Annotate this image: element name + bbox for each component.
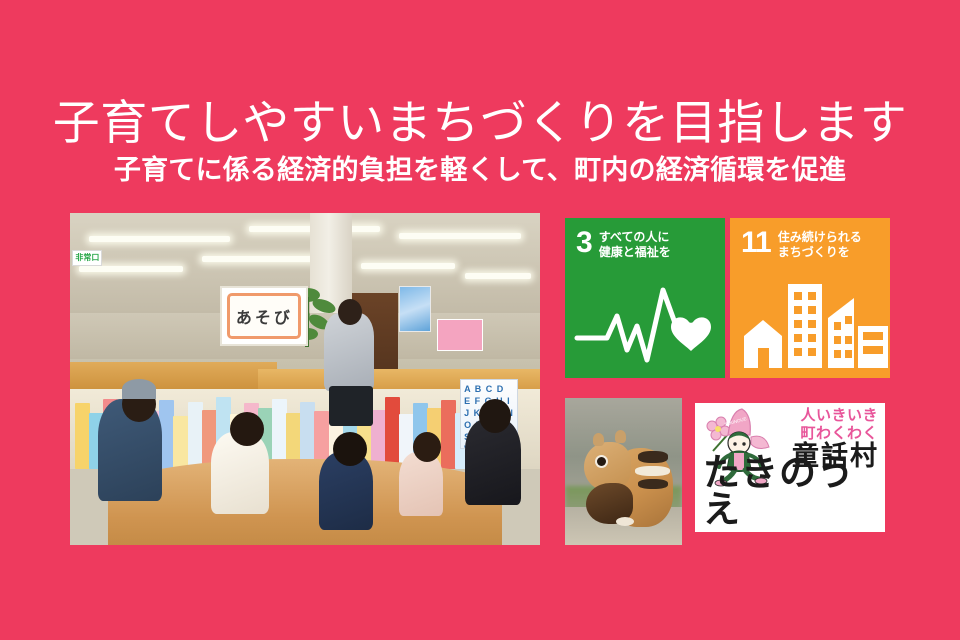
chipmunk-eye	[597, 457, 606, 466]
sdg-badge-3-line1: すべての人に	[599, 230, 671, 245]
logo-catchphrase-line1: 人いきいき	[800, 407, 878, 425]
exit-sign: 非常口	[72, 250, 102, 266]
sdg-badge-11-line2: まちづくりを	[778, 245, 862, 260]
sdg-badge-11-text: 住み続けられる まちづくりを	[778, 229, 862, 260]
page-title: 子育てしやすいまちづくりを目指します	[0, 98, 960, 147]
ceiling-light	[79, 266, 182, 272]
wall-poster	[399, 286, 431, 332]
logo-catchphrase: 人いきいき 町わくわく	[800, 407, 878, 443]
sdg-badge-3-line2: 健康と福祉を	[599, 245, 671, 260]
round-table	[108, 459, 503, 545]
page-subtitle: 子育てに係る経済的負担を軽くして、町内の経済循環を促進	[0, 156, 960, 186]
cityscape-icon	[730, 276, 890, 368]
sdg-badge-11-number: 11	[741, 229, 771, 257]
chipmunk-stripe	[638, 479, 668, 489]
chipmunk-ear	[593, 433, 604, 446]
chipmunk-photo	[565, 398, 682, 545]
ceiling-light	[361, 263, 455, 269]
seated-adult-right-head	[479, 399, 511, 433]
logo-town-name: たきのうえ	[703, 454, 885, 528]
standing-adult-legs	[329, 386, 373, 426]
library-photo: 非常口 あそび	[70, 213, 540, 545]
chipmunk-stripe	[638, 451, 668, 463]
slide-canvas: 子育てしやすいまちづくりを目指します 子育てに係る経済的負担を軽くして、町内の経…	[0, 0, 960, 640]
sdg-badge-3-number: 3	[576, 229, 592, 257]
asobi-sign-text: あそび	[227, 293, 301, 339]
toddler-head	[413, 432, 441, 462]
sdg-badge-3: 3 すべての人に 健康と福祉を	[565, 218, 725, 378]
sdg-badge-11: 11 住み続けられる まちづくりを	[730, 218, 890, 378]
ceiling-light	[89, 236, 230, 242]
sdg-badge-11-line1: 住み続けられる	[778, 230, 862, 245]
ceiling-light	[465, 273, 531, 279]
ceiling-light	[399, 233, 521, 239]
toddler	[399, 452, 443, 516]
takinoue-town-logo: TAKINOUE 人いきいき 町わくわく	[690, 398, 890, 537]
asobi-sign: あそび	[220, 286, 308, 346]
chipmunk-stripe	[635, 466, 670, 476]
sdg-badge-3-header: 3 すべての人に 健康と福祉を	[576, 229, 715, 260]
heartbeat-icon	[565, 276, 725, 368]
sdg-badge-11-header: 11 住み続けられる まちづくりを	[741, 229, 880, 260]
sdg-badge-3-text: すべての人に 健康と福祉を	[599, 229, 671, 260]
logo-inner: TAKINOUE 人いきいき 町わくわく	[695, 403, 885, 532]
standing-adult-head	[338, 299, 362, 325]
pink-notice	[437, 319, 483, 351]
child-center-head	[230, 412, 264, 446]
knit-cap	[122, 379, 156, 399]
chipmunk-ear	[615, 430, 626, 443]
